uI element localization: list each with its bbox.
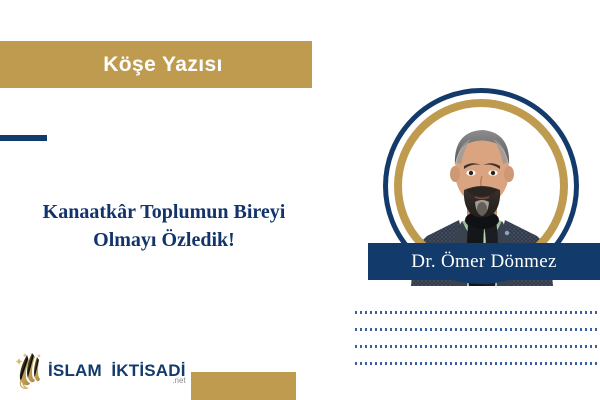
logo-tld: .net <box>172 377 185 385</box>
headline-line-2: Olmayı Özledik! <box>8 226 320 254</box>
category-banner: Köşe Yazısı <box>0 41 312 88</box>
slide-canvas: Köşe Yazısı Kanaatkâr Toplumun Bireyi Ol… <box>0 0 600 400</box>
dotted-line <box>355 328 600 331</box>
logo-wordmark: İSLAM İKTİSADİ .net <box>48 362 186 381</box>
dotted-line <box>355 362 600 365</box>
author-name-bar: Dr. Ömer Dönmez <box>368 243 600 280</box>
tulip-flame-icon <box>14 352 44 390</box>
headline-line-1: Kanaatkâr Toplumun Bireyi <box>43 201 286 223</box>
dotted-lines <box>355 311 600 379</box>
dotted-line <box>355 311 600 314</box>
bottom-gold-block <box>191 372 296 400</box>
islam-iktisadi-logo[interactable]: İSLAM İKTİSADİ .net <box>14 352 186 390</box>
article-headline: Kanaatkâr Toplumun Bireyi Olmayı Özledik… <box>8 198 320 255</box>
logo-word-1: İSLAM <box>48 361 102 380</box>
author-name-label: Dr. Ömer Dönmez <box>411 251 556 273</box>
navy-accent-rule <box>0 135 47 141</box>
dotted-line <box>355 345 600 348</box>
category-banner-label: Köşe Yazısı <box>89 53 223 77</box>
